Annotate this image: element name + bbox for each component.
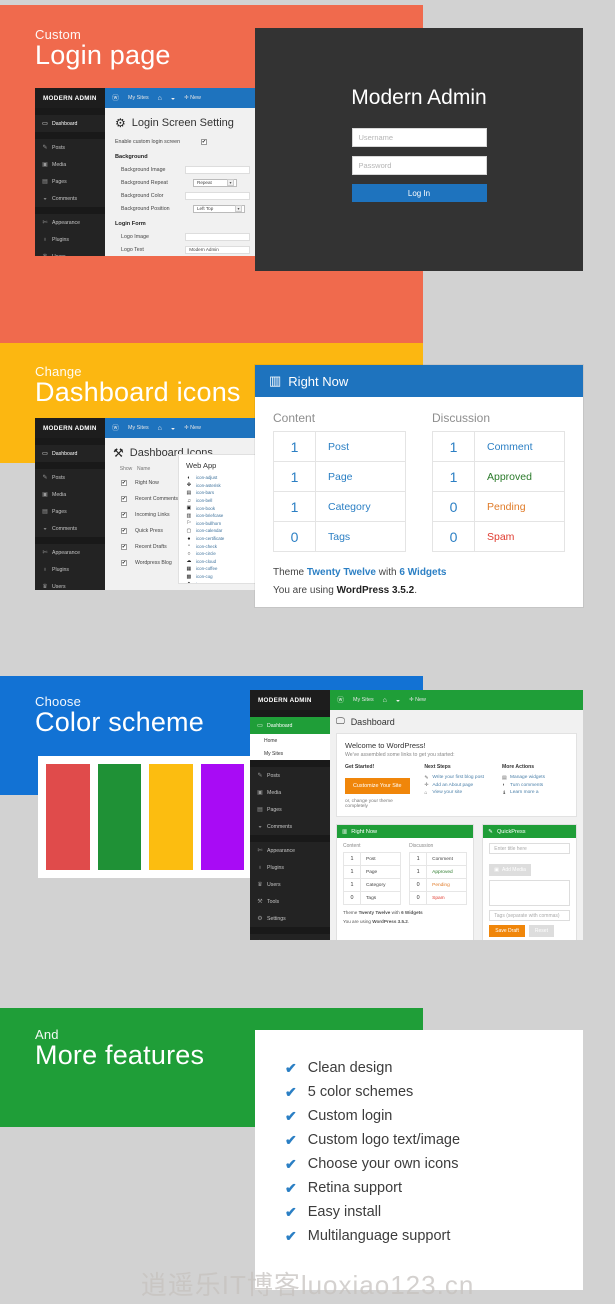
icon-picker-item[interactable]: ♫icon-bell bbox=[186, 497, 262, 505]
right-now-title: Right Now bbox=[288, 374, 348, 389]
icon-briefcase-icon: ▥ bbox=[186, 513, 192, 519]
home-icon[interactable]: ⌂ bbox=[158, 425, 162, 432]
admin-toolbar[interactable]: ⓦ My Sites ⌂ ◒ ✛ New bbox=[330, 690, 583, 710]
admin-brand: MODERN ADMIN bbox=[35, 88, 105, 108]
sidebar-item-label: Dashboard bbox=[52, 451, 77, 457]
table-row[interactable]: 0Tags bbox=[344, 892, 400, 905]
widgets-icon: ▤ bbox=[502, 775, 507, 781]
label[interactable]: Tags bbox=[361, 892, 400, 904]
sidebar-item-pages[interactable]: ▤ Pages bbox=[35, 173, 105, 190]
camera-icon: ▣ bbox=[42, 162, 48, 168]
enable-custom-login-row: Enable custom login screen ✔ bbox=[115, 135, 250, 148]
dashboard-icon: ▭ bbox=[42, 121, 48, 127]
label[interactable]: Category bbox=[316, 492, 405, 521]
show-checkbox[interactable]: ✔ bbox=[121, 512, 127, 518]
background-repeat-select[interactable]: Repeat ▾ bbox=[193, 179, 237, 187]
wp-version: WordPress 3.5.2 bbox=[372, 919, 408, 924]
icon-comment-icon: ◆ bbox=[186, 581, 192, 584]
icon-picker-item[interactable]: ▦icon-coffee bbox=[186, 565, 262, 573]
list-item-label: Retina support bbox=[308, 1180, 402, 1196]
sidebar-divider bbox=[35, 132, 105, 139]
list-item-label: Custom login bbox=[308, 1108, 393, 1124]
heading-title: More features bbox=[35, 1040, 204, 1071]
sidebar-item-settings[interactable]: ⚙ Settings bbox=[250, 910, 330, 927]
wordpress-icon[interactable]: ⓦ bbox=[112, 93, 119, 103]
widgets-count[interactable]: 6 Widgets bbox=[401, 910, 423, 915]
sidebar-item-comments[interactable]: ◒ Comments bbox=[250, 818, 330, 835]
admin-brand: MODERN ADMIN bbox=[250, 690, 330, 710]
color-swatch-green[interactable] bbox=[98, 764, 142, 870]
quickpress-widget: ✎ QuickPress Enter title here ▣ Add Medi… bbox=[482, 824, 577, 940]
background-position-select[interactable]: Left Top ▾ bbox=[193, 205, 245, 213]
icon-picker-item-label: icon-adjust bbox=[196, 475, 217, 480]
icon-picker-list[interactable]: ◐icon-adjust✤icon-asterisk▤icon-bars♫ico… bbox=[186, 474, 262, 584]
sidebar-item-label: Posts bbox=[52, 145, 65, 151]
count: 0 bbox=[410, 879, 427, 891]
label[interactable]: Tags bbox=[316, 522, 405, 551]
table-row[interactable]: 0Spam bbox=[410, 892, 466, 905]
add-media-button[interactable]: ▣ Add Media bbox=[489, 864, 531, 876]
group-login-form-label: Login Form bbox=[115, 221, 250, 227]
icon-picker-item[interactable]: ☁icon-cloud bbox=[186, 558, 262, 566]
label[interactable]: Pending bbox=[427, 879, 466, 891]
sidebar-item-label: Comments bbox=[52, 196, 77, 202]
sidebar-item-posts[interactable]: ✎ Posts bbox=[35, 139, 105, 156]
icon-picker-item[interactable]: ▩icon-cog bbox=[186, 573, 262, 581]
list-item[interactable]: ◗Turn comments bbox=[502, 782, 568, 790]
heading-kicker: Change bbox=[35, 364, 241, 379]
icon-picker-item[interactable]: ▣icon-book bbox=[186, 504, 262, 512]
icon-picker-item-label: icon-comment bbox=[196, 582, 224, 584]
sidebar-item-modern-admin[interactable]: ★ Modern Admin bbox=[250, 934, 330, 940]
check-icon: ✔ bbox=[285, 1108, 297, 1125]
sidebar-item-media[interactable]: ▣ Media bbox=[35, 486, 105, 503]
sidebar-item-label: Pages bbox=[52, 179, 67, 185]
theme-line: Theme Twenty Twelve with 6 Widgets bbox=[273, 564, 565, 582]
list-item[interactable]: ♝Learn more a bbox=[502, 789, 568, 797]
field-label: Background Repeat bbox=[115, 180, 193, 186]
icon-picker-item[interactable]: ▫icon-check bbox=[186, 542, 262, 550]
pin-icon: ✎ bbox=[257, 773, 263, 779]
heading-kicker: Choose bbox=[35, 694, 204, 709]
list-item-label: 5 color schemes bbox=[308, 1084, 414, 1100]
label[interactable]: Comment bbox=[475, 432, 564, 461]
welcome-panel: Welcome to WordPress! We've assembled so… bbox=[336, 733, 577, 817]
edit-icon: ✎ bbox=[424, 775, 429, 781]
widgets-count[interactable]: 6 Widgets bbox=[399, 567, 446, 578]
sidebar-divider bbox=[35, 537, 105, 544]
pin-icon: ✎ bbox=[42, 145, 48, 151]
icon-picker-title: Web App bbox=[186, 461, 262, 470]
icon-picker-item-label: icon-bullhorn bbox=[196, 521, 221, 526]
sidebar-item-media[interactable]: ▣ Media bbox=[35, 156, 105, 173]
sidebar-item-comments[interactable]: ◒ Comments bbox=[35, 190, 105, 207]
field-label: Background Color bbox=[115, 193, 185, 199]
sidebar-item-label: Appearance bbox=[267, 848, 295, 854]
camera-icon: ▣ bbox=[42, 492, 48, 498]
count: 1 bbox=[274, 462, 316, 491]
star-icon: ★ bbox=[257, 940, 263, 941]
right-now-footer: Theme Twenty Twelve with 6 Widgets You a… bbox=[343, 909, 467, 926]
col-show: Show bbox=[115, 466, 137, 472]
users-icon: ♛ bbox=[42, 584, 48, 590]
sidebar-item-appearance[interactable]: ✄ Appearance bbox=[250, 842, 330, 859]
sidebar-item-plugins[interactable]: ♁ Plugins bbox=[35, 561, 105, 578]
table-row[interactable]: 1 Post bbox=[274, 432, 405, 462]
heading-dashboard-icons: Change Dashboard icons bbox=[35, 364, 241, 408]
content-column: Content 1 Post 1 Page 1 Category 0 Tags bbox=[273, 411, 406, 552]
icon-picker-item-label: icon-coffee bbox=[196, 566, 217, 571]
list-item: ✔Clean design bbox=[285, 1056, 553, 1080]
add-media-label: Add Media bbox=[502, 867, 526, 873]
sidebar-item-appearance[interactable]: ✄ Appearance bbox=[35, 214, 105, 231]
count: 0 bbox=[410, 892, 427, 904]
sidebar-item-label: Dashboard bbox=[52, 121, 77, 127]
icon-bars-icon: ▤ bbox=[186, 490, 192, 496]
color-swatch-red[interactable] bbox=[46, 764, 90, 870]
plug-icon: ♁ bbox=[257, 865, 263, 871]
table-row[interactable]: 1 Page bbox=[274, 462, 405, 492]
quickpress-title-input[interactable]: Enter title here bbox=[489, 843, 570, 854]
right-now-title: Right Now bbox=[351, 829, 377, 835]
label[interactable]: Approved bbox=[475, 462, 564, 491]
heading-color-scheme: Choose Color scheme bbox=[35, 694, 204, 738]
table-row[interactable]: 1Approved bbox=[410, 866, 466, 879]
icon-cog-icon: ▩ bbox=[186, 574, 192, 580]
version-prefix: You are using bbox=[273, 585, 337, 596]
field-label: Background Image bbox=[115, 167, 185, 173]
sidebar-divider bbox=[250, 927, 330, 934]
sidebar-item-posts[interactable]: ✎ Posts bbox=[250, 767, 330, 784]
check-icon: ✔ bbox=[285, 1084, 297, 1101]
admin-content-dashboard: 🖵 Dashboard Welcome to WordPress! We've … bbox=[330, 710, 583, 940]
list-item: ✔Choose your own icons bbox=[285, 1152, 553, 1176]
sidebar-item-media[interactable]: ▣ Media bbox=[250, 784, 330, 801]
chevron-down-icon: ▾ bbox=[227, 179, 234, 186]
icon-picker-item[interactable]: ◆icon-comment bbox=[186, 580, 262, 584]
count: 0 bbox=[274, 522, 316, 551]
page-title: 🖵 Dashboard bbox=[336, 716, 577, 727]
background-image-input[interactable] bbox=[185, 166, 250, 174]
icon-coffee-icon: ▦ bbox=[186, 566, 192, 572]
quickpress-content-textarea[interactable] bbox=[489, 880, 570, 906]
comment-icon[interactable]: ◒ bbox=[396, 697, 400, 704]
list-item[interactable]: ✛Add an About page bbox=[424, 782, 492, 790]
sidebar-item-dashboard[interactable]: ▭ Dashboard bbox=[35, 115, 105, 132]
sidebar-item-label: Dashboard bbox=[267, 723, 292, 729]
table-row[interactable]: 0 Spam bbox=[433, 522, 564, 552]
customize-site-button[interactable]: Customize Your Site bbox=[345, 778, 410, 794]
table-row[interactable]: 1 Comment bbox=[433, 432, 564, 462]
icon-picker-item[interactable]: ⚐icon-bullhorn bbox=[186, 520, 262, 528]
label[interactable]: Page bbox=[316, 462, 405, 491]
sidebar-item-appearance[interactable]: ✄ Appearance bbox=[35, 544, 105, 561]
show-checkbox[interactable]: ✔ bbox=[121, 480, 127, 486]
table-row[interactable]: 0 Pending bbox=[433, 492, 564, 522]
check-icon: ✔ bbox=[285, 1132, 297, 1149]
check-icon: ✔ bbox=[285, 1156, 297, 1173]
icon-adjust-icon: ◐ bbox=[186, 475, 192, 481]
save-draft-button[interactable]: Save Draft bbox=[489, 925, 525, 937]
sidebar-divider bbox=[35, 108, 105, 115]
discussion-column: Discussion 1Comment 1Approved 0Pending 0… bbox=[409, 843, 467, 905]
label[interactable]: Post bbox=[316, 432, 405, 461]
heading-title: Login page bbox=[35, 40, 171, 71]
home-icon[interactable]: ⌂ bbox=[158, 95, 162, 102]
wp-version: WordPress 3.5.2 bbox=[337, 585, 415, 596]
icon-picker-item[interactable]: ▢icon-calendar bbox=[186, 527, 262, 535]
right-now-body: Content 1Post 1Page 1Category 0Tags Disc… bbox=[337, 838, 473, 931]
page-icon: ▤ bbox=[257, 807, 263, 813]
toolbar-new[interactable]: ✛ New bbox=[409, 697, 426, 703]
check-icon: ✔ bbox=[285, 1060, 297, 1077]
count: 0 bbox=[433, 492, 475, 521]
table-row[interactable]: 1 Approved bbox=[433, 462, 564, 492]
icon-bullhorn-icon: ⚐ bbox=[186, 520, 192, 526]
sidebar-item-label: Posts bbox=[52, 475, 65, 481]
sidebar-item-posts[interactable]: ✎ Posts bbox=[35, 469, 105, 486]
icon-picker-item[interactable]: ▥icon-briefcase bbox=[186, 512, 262, 520]
count: 0 bbox=[344, 892, 361, 904]
sidebar-item-plugins[interactable]: ♁ Plugins bbox=[250, 859, 330, 876]
list-item: ✔Custom login bbox=[285, 1104, 553, 1128]
reset-button[interactable]: Reset bbox=[529, 925, 554, 937]
list-item-label: Add an About page bbox=[432, 783, 473, 788]
row-background-position: Background Position Left Top ▾ bbox=[115, 202, 250, 215]
plug-icon: ♁ bbox=[42, 237, 48, 243]
background-color-input[interactable] bbox=[185, 192, 250, 200]
sidebar-item-label: Users bbox=[52, 584, 66, 590]
list-item: ✔Retina support bbox=[285, 1176, 553, 1200]
admin-sidebar: MODERN ADMIN ▭ Dashboard Home My Sites ✎… bbox=[250, 690, 330, 940]
sidebar-item-label: Comments bbox=[267, 824, 292, 830]
sidebar-item-label: Settings bbox=[267, 916, 286, 922]
discussion-heading: Discussion bbox=[409, 843, 467, 849]
heading-kicker: And bbox=[35, 1027, 204, 1042]
icon-picker-item[interactable]: ◐icon-adjust bbox=[186, 474, 262, 482]
right-now-body: Content 1 Post 1 Page 1 Category 0 Tags bbox=[255, 397, 583, 613]
wordpress-icon[interactable]: ⓦ bbox=[112, 423, 119, 433]
change-theme-note[interactable]: or, change your theme completely bbox=[345, 799, 414, 809]
sidebar-item-label: Plugins bbox=[52, 237, 69, 243]
count: 1 bbox=[410, 866, 427, 878]
icon-picker-item-label: icon-certificate bbox=[196, 536, 224, 541]
right-now-footer: Theme Twenty Twelve with 6 Widgets You a… bbox=[273, 564, 565, 599]
list-item[interactable]: ⌂View your site bbox=[424, 789, 492, 797]
select-value: Left Top bbox=[197, 206, 213, 211]
quickpress-tags-input[interactable]: Tags (separate with commas) bbox=[489, 910, 570, 921]
label[interactable]: Post bbox=[361, 853, 400, 865]
icon-cloud-icon: ☁ bbox=[186, 558, 192, 564]
color-swatch-yellow[interactable] bbox=[149, 764, 193, 870]
table-row[interactable]: 1Page bbox=[344, 866, 400, 879]
watermark: 逍遥乐IT博客luoxiao123.cn bbox=[0, 1265, 615, 1302]
show-checkbox[interactable]: ✔ bbox=[121, 496, 127, 502]
label[interactable]: Spam bbox=[475, 522, 564, 551]
count: 1 bbox=[274, 432, 316, 461]
sidebar-item-label: Plugins bbox=[267, 865, 284, 871]
theme-name[interactable]: Twenty Twelve bbox=[307, 567, 376, 578]
show-checkbox[interactable]: ✔ bbox=[121, 544, 127, 550]
admin-toolbar[interactable]: ⓦ My Sites ⌂ ◒ ✛ New bbox=[105, 418, 270, 438]
icon-picker-item-label: icon-cloud bbox=[196, 559, 216, 564]
logo-image-input[interactable] bbox=[185, 233, 250, 241]
icon-picker-item-label: icon-bell bbox=[196, 498, 212, 503]
table-row[interactable]: 1Comment bbox=[410, 853, 466, 866]
theme-name[interactable]: Twenty Twelve bbox=[359, 910, 391, 915]
sidebar-subitem-home[interactable]: Home bbox=[250, 734, 330, 747]
toolbar-my-sites[interactable]: My Sites bbox=[353, 697, 374, 703]
sidebar-item-dashboard[interactable]: ▭ Dashboard bbox=[35, 445, 105, 462]
label[interactable]: Category bbox=[361, 879, 400, 891]
sidebar-item-dashboard[interactable]: ▭ Dashboard bbox=[250, 717, 330, 734]
list-item-label: Easy install bbox=[308, 1204, 381, 1220]
icon-picker-item[interactable]: ○icon-circle bbox=[186, 550, 262, 558]
list-item-label: Custom logo text/image bbox=[308, 1132, 460, 1148]
sidebar-item-pages[interactable]: ▤ Pages bbox=[35, 503, 105, 520]
sidebar-item-label: Modern Admin bbox=[267, 940, 300, 941]
brush-icon: ✄ bbox=[42, 220, 48, 226]
monitor-icon: 🖵 bbox=[336, 716, 345, 727]
toolbar-my-sites[interactable]: My Sites bbox=[128, 425, 149, 431]
group-background-label: Background bbox=[115, 154, 250, 160]
discussion-heading: Discussion bbox=[432, 411, 565, 425]
login-modal-title: Modern Admin bbox=[255, 28, 583, 110]
toolbar-new[interactable]: ✛ New bbox=[184, 95, 201, 101]
comment-icon[interactable]: ◒ bbox=[171, 425, 175, 432]
discussion-table: 1 Comment 1 Approved 0 Pending 0 Spam bbox=[432, 431, 565, 552]
wordpress-icon[interactable]: ⓦ bbox=[337, 695, 344, 705]
wrench-icon: ⚒ bbox=[257, 899, 263, 905]
discussion-column: Discussion 1 Comment 1 Approved 0 Pendin… bbox=[432, 411, 565, 552]
admin-brand: MODERN ADMIN bbox=[35, 418, 105, 438]
plus-icon: ✛ bbox=[424, 782, 429, 788]
sidebar-subitem-my-sites[interactable]: My Sites bbox=[250, 747, 330, 760]
sidebar-item-label: Pages bbox=[52, 509, 67, 515]
show-checkbox[interactable]: ✔ bbox=[121, 560, 127, 566]
sidebar-divider bbox=[35, 462, 105, 469]
home-icon[interactable]: ⌂ bbox=[383, 697, 387, 704]
toolbar-my-sites[interactable]: My Sites bbox=[128, 95, 149, 101]
sidebar-item-label: Posts bbox=[267, 773, 280, 779]
chevron-down-icon: ▾ bbox=[235, 205, 242, 212]
sidebar-item-pages[interactable]: ▤ Pages bbox=[250, 801, 330, 818]
sidebar-item-label: Comments bbox=[52, 526, 77, 532]
row-background-repeat: Background Repeat Repeat ▾ bbox=[115, 176, 250, 189]
label[interactable]: Pending bbox=[475, 492, 564, 521]
page-title-text: Login Screen Setting bbox=[132, 117, 234, 129]
heading-more-features: And More features bbox=[35, 1027, 204, 1071]
count: 1 bbox=[344, 866, 361, 878]
sidebar-divider bbox=[35, 438, 105, 445]
icon-picker-item[interactable]: ●icon-certificate bbox=[186, 535, 262, 543]
sidebar-divider bbox=[250, 710, 330, 717]
sidebar-item-plugins[interactable]: ♁ Plugins bbox=[35, 231, 105, 248]
right-now-header: ▥ Right Now bbox=[255, 365, 583, 397]
color-swatch-purple[interactable] bbox=[201, 764, 245, 870]
sidebar-item-tools[interactable]: ⚒ Tools bbox=[250, 893, 330, 910]
row-background-color: Background Color bbox=[115, 189, 250, 202]
sidebar-item-label: Users bbox=[267, 882, 281, 888]
sidebar-item-users[interactable]: ♛ Users bbox=[35, 578, 105, 590]
list-item-label: Manage widgets bbox=[510, 775, 545, 780]
label[interactable]: Approved bbox=[427, 866, 466, 878]
quickpress-header: ✎ QuickPress bbox=[483, 825, 576, 838]
login-submit-button[interactable]: Log In bbox=[352, 184, 487, 202]
sidebar-item-users[interactable]: ♛ Users bbox=[250, 876, 330, 893]
sidebar-divider bbox=[250, 760, 330, 767]
count: 0 bbox=[433, 522, 475, 551]
camera-icon: ▣ bbox=[257, 790, 263, 796]
content-table: 1Post 1Page 1Category 0Tags bbox=[343, 852, 401, 905]
users-icon: ♛ bbox=[42, 254, 48, 257]
label[interactable]: Page bbox=[361, 866, 400, 878]
content-heading: Content bbox=[343, 843, 401, 849]
sidebar-item-label: Media bbox=[52, 162, 66, 168]
page-title: ⚙ Login Screen Setting bbox=[115, 116, 250, 130]
list-item-label: Write your first blog post bbox=[432, 775, 484, 780]
label[interactable]: Comment bbox=[427, 853, 466, 865]
list-item: ✔5 color schemes bbox=[285, 1080, 553, 1104]
icon-picker-item[interactable]: ▤icon-bars bbox=[186, 489, 262, 497]
sidebar-item-label: Appearance bbox=[52, 550, 80, 556]
sidebar-item-label: Appearance bbox=[52, 220, 80, 226]
pin-icon: ✎ bbox=[42, 475, 48, 481]
icon-certificate-icon: ● bbox=[186, 536, 192, 542]
content-heading: Content bbox=[273, 411, 406, 425]
icon-picker-item[interactable]: ✤icon-asterisk bbox=[186, 482, 262, 490]
next-steps-heading: Next Steps bbox=[424, 764, 492, 770]
label[interactable]: Spam bbox=[427, 892, 466, 904]
username-input[interactable]: Username bbox=[352, 128, 487, 147]
chart-icon: ▥ bbox=[342, 829, 347, 835]
list-item[interactable]: ▤Manage widgets bbox=[502, 774, 568, 782]
admin-mock-login-settings: MODERN ADMIN ▭ Dashboard ✎ Posts ▣ Media… bbox=[35, 88, 260, 256]
home-icon: ⌂ bbox=[424, 790, 429, 796]
icon-picker-item-label: icon-asterisk bbox=[196, 483, 221, 488]
table-row[interactable]: 0 Tags bbox=[274, 522, 405, 552]
quickpress-title: QuickPress bbox=[497, 829, 526, 835]
logo-text-input[interactable]: Modern Admin bbox=[185, 246, 250, 254]
features-card: ✔Clean design✔5 color schemes✔Custom log… bbox=[255, 1030, 583, 1290]
list-item[interactable]: ✎Write your first blog post bbox=[424, 774, 492, 782]
quickpress-body: Enter title here ▣ Add Media Tags (separ… bbox=[483, 838, 576, 940]
features-list: ✔Clean design✔5 color schemes✔Custom log… bbox=[285, 1056, 553, 1248]
login-modal: Modern Admin Username Password Log In bbox=[255, 28, 583, 271]
sidebar-item-users[interactable]: ♛ Users bbox=[35, 248, 105, 256]
comment-icon: ◗ bbox=[502, 782, 507, 788]
table-row[interactable]: 1 Category bbox=[274, 492, 405, 522]
icon-picker-item-label: icon-calendar bbox=[196, 528, 222, 533]
sidebar-item-label: Pages bbox=[267, 807, 282, 813]
enable-login-checkbox[interactable]: ✔ bbox=[201, 139, 207, 145]
sidebar-item-comments[interactable]: ◒ Comments bbox=[35, 520, 105, 537]
table-row[interactable]: 1Category bbox=[344, 879, 400, 892]
right-now-widget: ▥ Right Now Content 1 Post 1 Page 1 Cate… bbox=[255, 365, 583, 607]
admin-toolbar[interactable]: ⓦ My Sites ⌂ ◒ ✛ New bbox=[105, 88, 260, 108]
list-item-label: View your site bbox=[432, 790, 462, 795]
theme-mid: with bbox=[376, 567, 399, 578]
admin-content-login-settings: ⚙ Login Screen Setting Enable custom log… bbox=[105, 108, 260, 256]
toolbar-new[interactable]: ✛ New bbox=[184, 425, 201, 431]
show-checkbox[interactable]: ✔ bbox=[121, 528, 127, 534]
icon-calendar-icon: ▢ bbox=[186, 528, 192, 534]
icon-book-icon: ▣ bbox=[186, 505, 192, 511]
table-row[interactable]: 1Post bbox=[344, 853, 400, 866]
password-input[interactable]: Password bbox=[352, 156, 487, 175]
table-row[interactable]: 0Pending bbox=[410, 879, 466, 892]
comment-icon[interactable]: ◒ bbox=[171, 95, 175, 102]
